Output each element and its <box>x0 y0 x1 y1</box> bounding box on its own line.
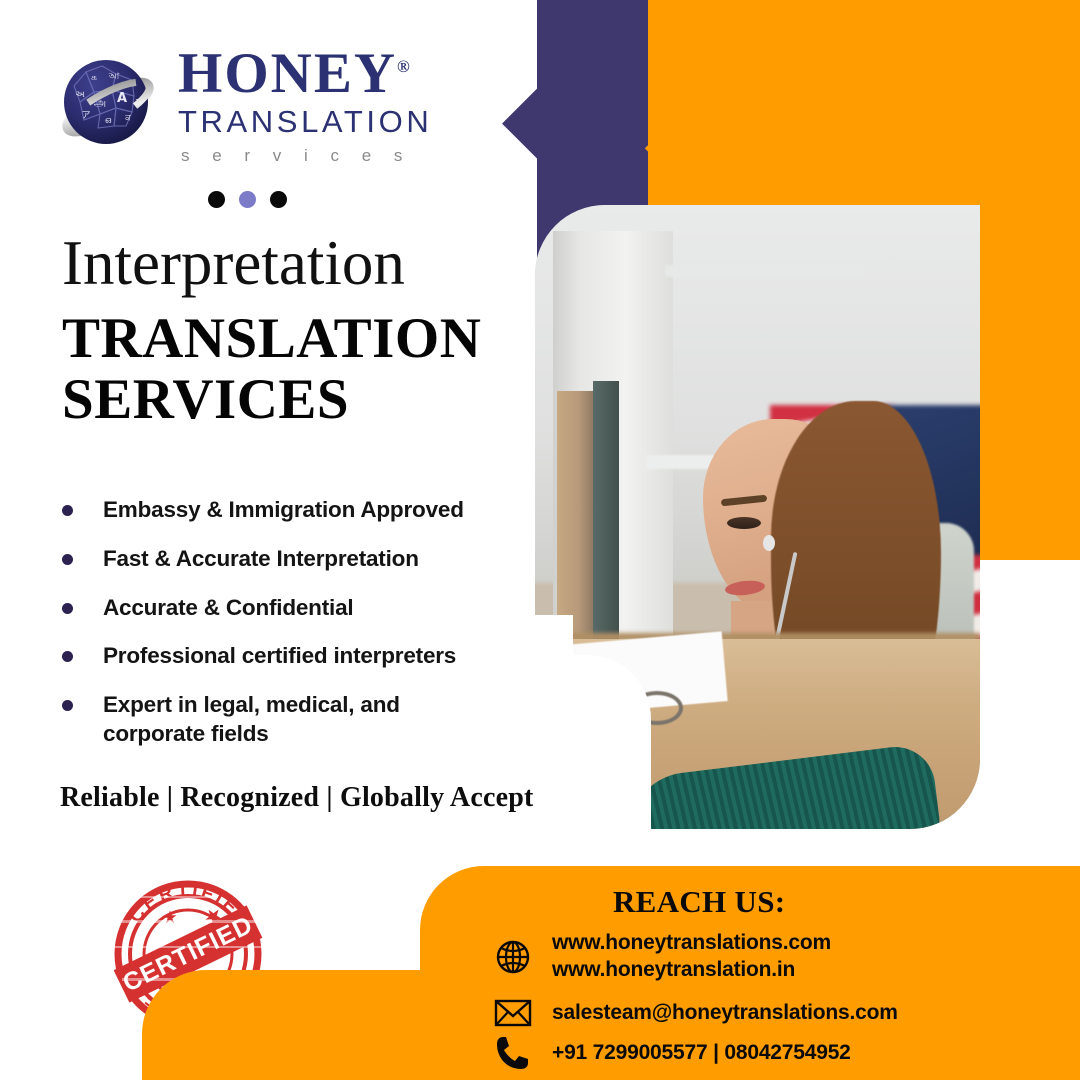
tagline: Reliable | Recognized | Globally Accepte… <box>60 782 562 814</box>
dot-separator <box>208 191 287 208</box>
poster-canvas: க আ い અ அ A ह ア ഒ ਕ HONEY® TRANSLATION s <box>0 0 1080 1080</box>
headline-bold-2: SERVICES <box>62 366 532 433</box>
contact-email[interactable]: salesteam@honeytranslations.com <box>552 1000 898 1027</box>
bullet-icon <box>62 554 73 565</box>
svg-text:ഒ: ഒ <box>105 116 112 126</box>
contact-title: REACH US: <box>613 884 785 920</box>
dot-2 <box>239 191 256 208</box>
bullet-icon <box>62 603 73 614</box>
photo-shelf-book <box>557 391 593 641</box>
envelope-icon <box>492 992 534 1034</box>
headline-bold-1: TRANSLATION <box>62 305 532 372</box>
brand-name-tertiary: s e r v i c e s <box>178 146 432 166</box>
headline-group: Interpretation TRANSLATION SERVICES <box>62 232 532 434</box>
list-item-label: Embassy & Immigration Approved <box>103 496 464 525</box>
list-item-label: Accurate & Confidential <box>103 594 353 623</box>
contact-row-phone[interactable]: +91 7299005577 | 08042754952 <box>492 1032 851 1074</box>
list-item-label: Expert in legal, medical, and corporate … <box>103 691 443 749</box>
svg-text:ア: ア <box>81 111 90 121</box>
list-item-label: Professional certified interpreters <box>103 642 456 671</box>
photo-corner-notch <box>533 655 651 831</box>
list-item: Professional certified interpreters <box>56 642 526 671</box>
svg-text:க: க <box>91 73 97 83</box>
brand-name-primary-text: HONEY <box>178 42 397 105</box>
contact-website-block: www.honeytranslations.com www.honeytrans… <box>552 930 831 984</box>
brand-wordmark: HONEY® TRANSLATION s e r v i c e s <box>178 42 432 166</box>
photo-shelf-book-2 <box>593 381 619 639</box>
contact-website-1[interactable]: www.honeytranslations.com <box>552 931 831 954</box>
svg-text:A: A <box>117 91 127 106</box>
bullet-icon <box>62 700 73 711</box>
svg-text:আ: আ <box>108 72 120 82</box>
dot-3 <box>270 191 287 208</box>
contact-phone[interactable]: +91 7299005577 | 08042754952 <box>552 1040 851 1067</box>
list-item: Expert in legal, medical, and corporate … <box>56 691 526 749</box>
contact-row-email[interactable]: salesteam@honeytranslations.com <box>492 992 898 1034</box>
bullet-icon <box>62 505 73 516</box>
list-item: Fast & Accurate Interpretation <box>56 545 526 574</box>
brand-logo: க আ い અ அ A ह ア ഒ ਕ HONEY® TRANSLATION s <box>56 42 432 166</box>
globe-icon <box>492 936 534 978</box>
feature-list: Embassy & Immigration Approved Fast & Ac… <box>56 496 526 769</box>
headline-script: Interpretation <box>62 232 532 295</box>
registered-mark-icon: ® <box>397 57 410 76</box>
brand-name-primary: HONEY® <box>178 46 432 102</box>
svg-text:અ: અ <box>75 90 85 100</box>
list-item: Accurate & Confidential <box>56 594 526 623</box>
list-item: Embassy & Immigration Approved <box>56 496 526 525</box>
contact-website-2[interactable]: www.honeytranslation.in <box>552 958 795 981</box>
bullet-icon <box>62 651 73 662</box>
svg-text:ਕ: ਕ <box>124 113 131 122</box>
photo-shelf-edge-top <box>665 265 865 277</box>
dot-1 <box>208 191 225 208</box>
brand-name-secondary: TRANSLATION <box>178 104 432 140</box>
contact-row-website[interactable]: www.honeytranslations.com www.honeytrans… <box>492 930 831 984</box>
photo-earphone-bud <box>763 535 775 551</box>
phone-icon <box>492 1032 534 1074</box>
globe-logo-icon: க আ い અ அ A ह ア ഒ ਕ <box>56 50 164 158</box>
list-item-label: Fast & Accurate Interpretation <box>103 545 419 574</box>
hero-photo <box>535 205 980 829</box>
photo-eye <box>727 517 761 529</box>
